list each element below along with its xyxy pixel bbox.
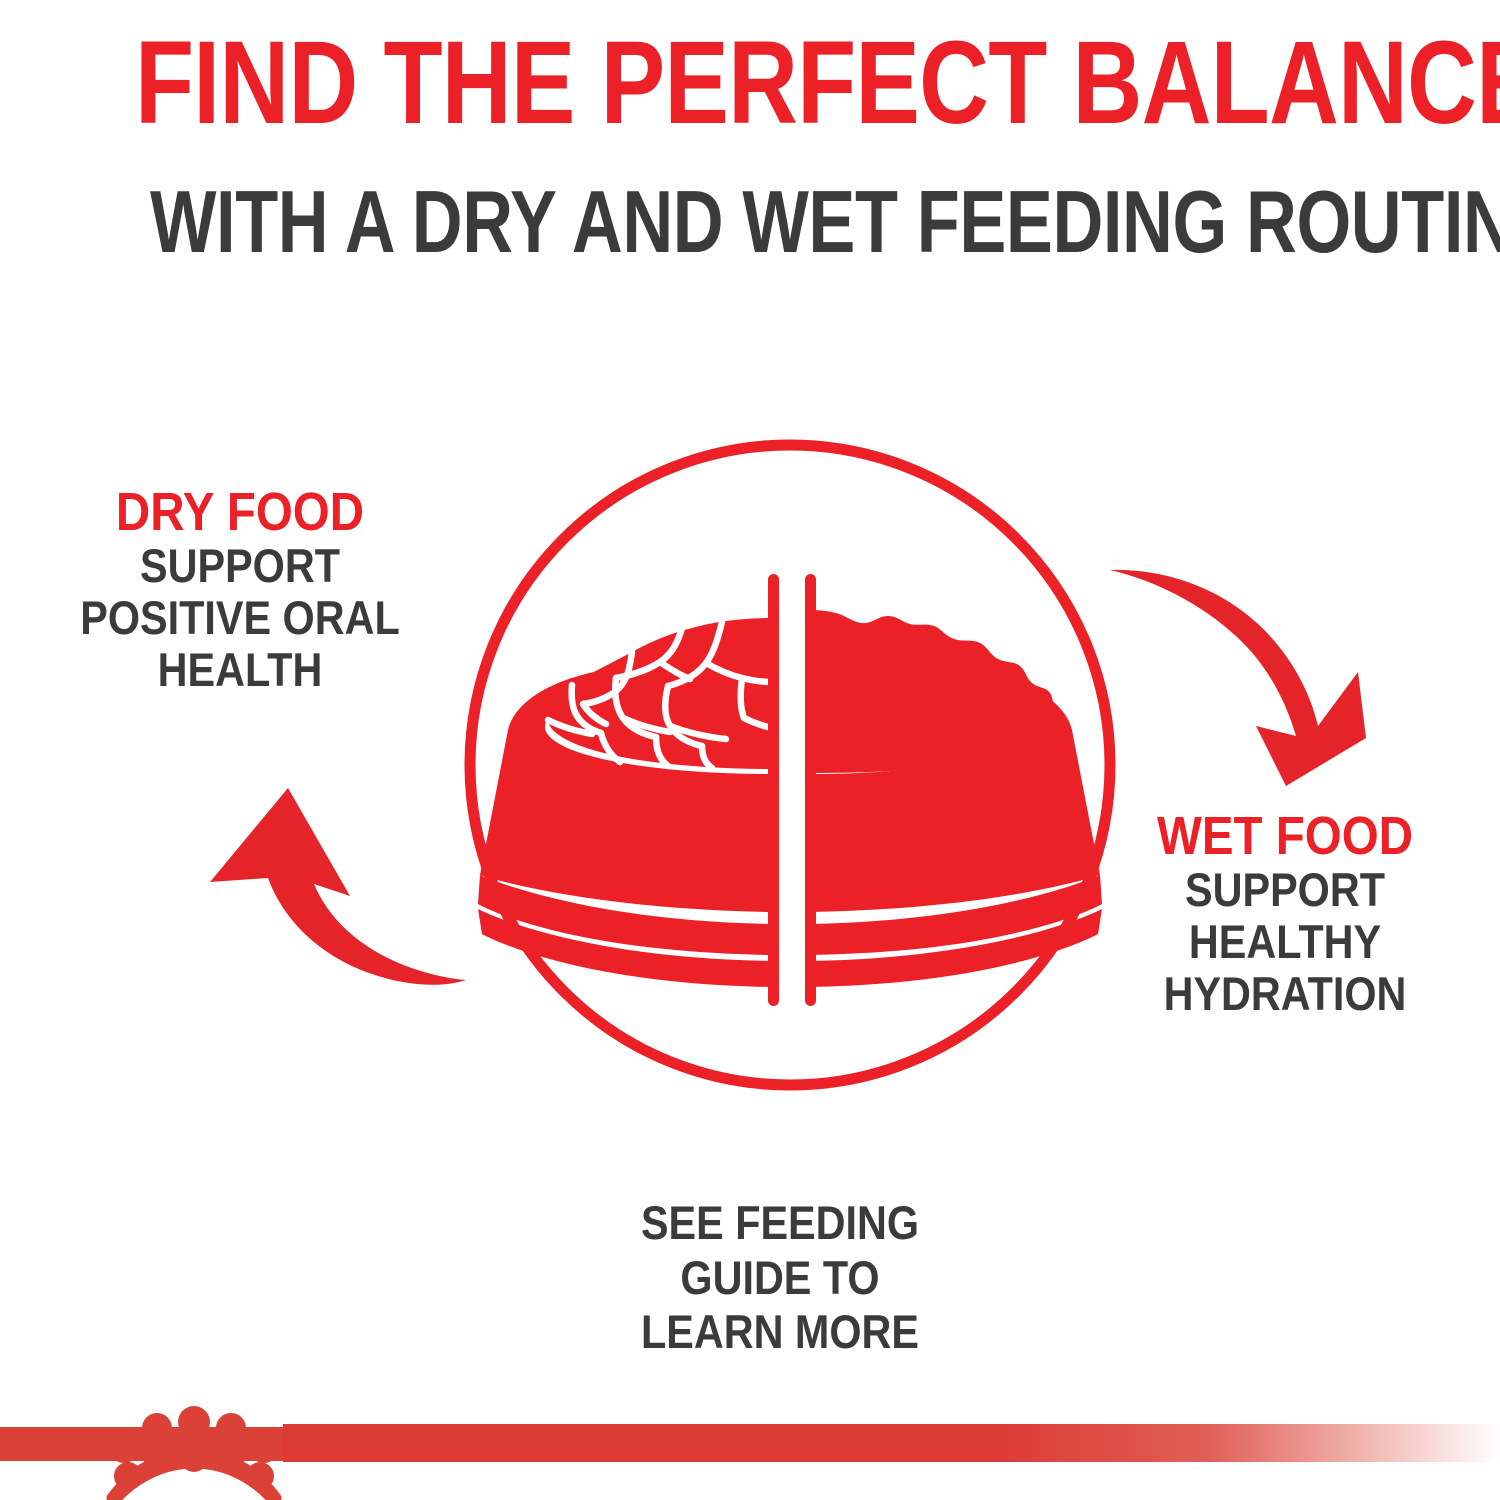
dry-food-line-2: POSITIVE ORAL: [55, 592, 425, 644]
dry-food-block: DRY FOOD SUPPORT POSITIVE ORAL HEALTH: [30, 484, 450, 695]
cta-line-1: SEE FEEDING: [560, 1196, 1000, 1251]
footer-bar-right: [283, 1424, 1500, 1462]
arrow-to-wet-food-icon: [1090, 540, 1410, 820]
dry-food-title: DRY FOOD: [55, 484, 425, 540]
footer: [0, 1406, 1500, 1500]
cta-line-2: GUIDE TO: [560, 1251, 1000, 1306]
dry-side-group: [476, 618, 772, 987]
dry-food-line-3: HEALTH: [55, 644, 425, 696]
cta-line-3: LEARN MORE: [560, 1305, 1000, 1360]
feeding-guide-cta: SEE FEEDING GUIDE TO LEARN MORE: [560, 1196, 1000, 1360]
dry-food-line-1: SUPPORT: [55, 540, 425, 592]
arrow-to-dry-food-icon: [180, 770, 510, 1040]
royal-canin-crown-logo: [94, 1406, 294, 1500]
page-title: FIND THE PERFECT BALANCE: [135, 24, 1365, 142]
split-bowl-icon: [420, 412, 1160, 1118]
infographic-page: FIND THE PERFECT BALANCE WITH A DRY AND …: [0, 0, 1500, 1500]
wet-side-group: [808, 610, 1102, 987]
page-subtitle: WITH A DRY AND WET FEEDING ROUTINE: [150, 178, 1350, 266]
